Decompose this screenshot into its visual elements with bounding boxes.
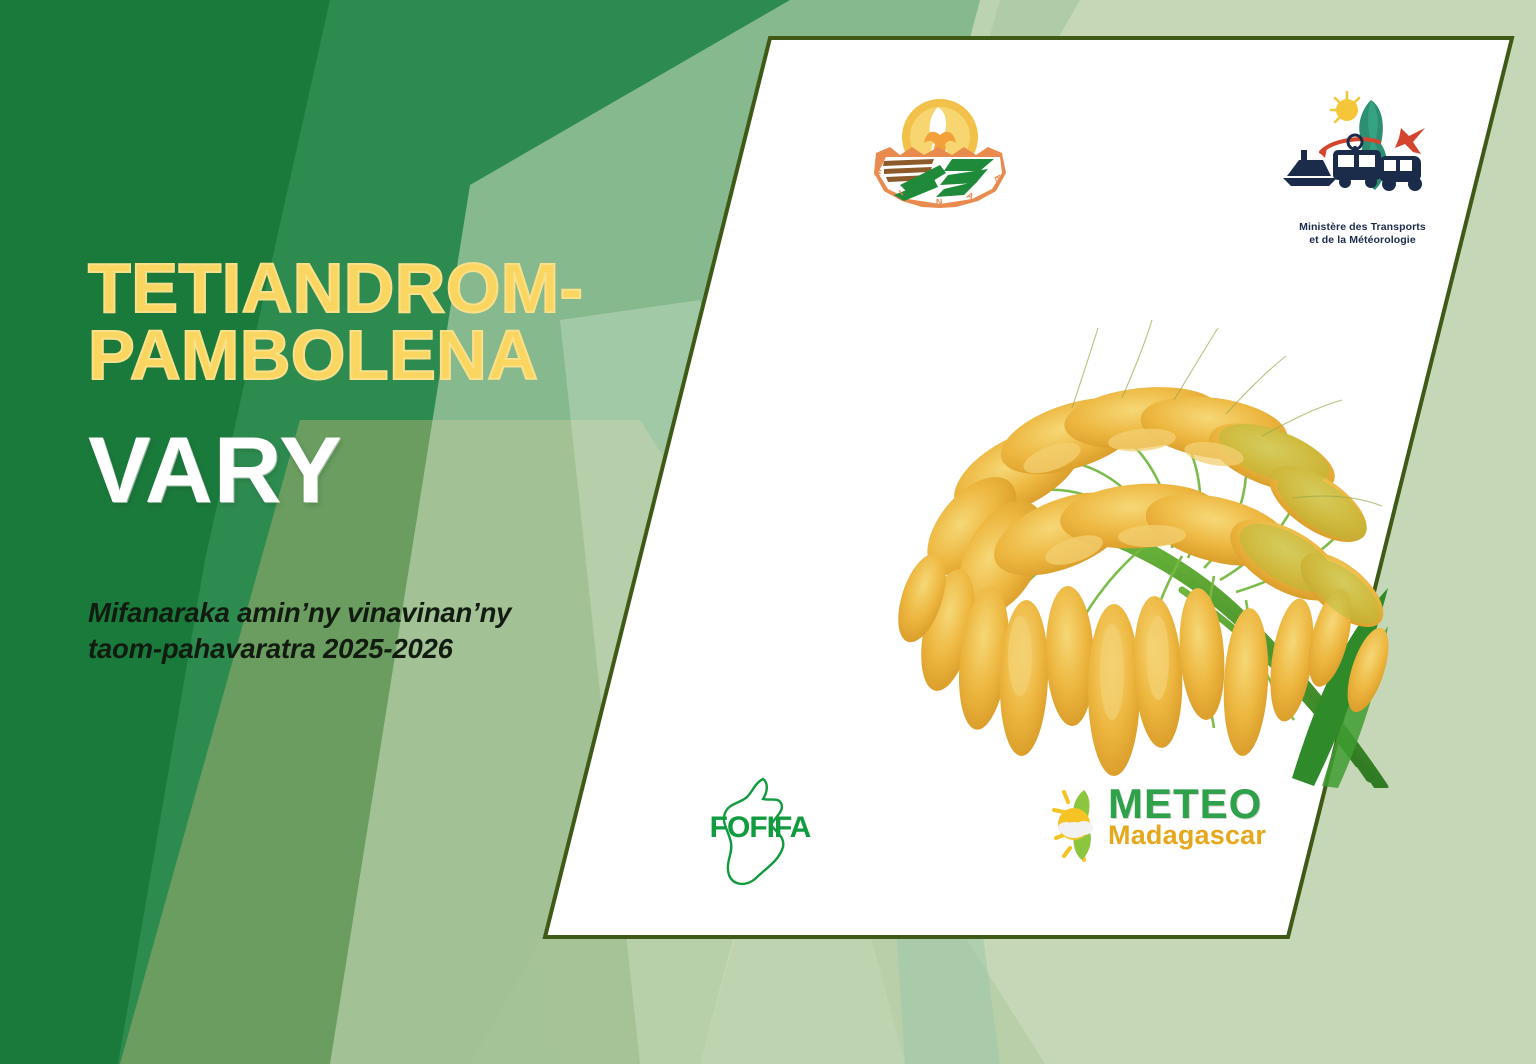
svg-text:N: N xyxy=(936,197,943,207)
page-title-line2: PAMBOLENA xyxy=(88,322,708,389)
ministry-caption-line1: Ministère des Transports xyxy=(1275,221,1450,235)
ministry-caption: Ministère des Transports et de la Météor… xyxy=(1275,221,1450,248)
tagline-line1: Mifanaraka amin’ny vinavinan’ny xyxy=(88,595,708,630)
ministere-des-transports-logo: Ministère des Transports et de la Météor… xyxy=(1275,88,1450,248)
rice-panicle-photo xyxy=(822,258,1392,788)
minae-logo: M I N A E xyxy=(860,95,1020,215)
plane-icon xyxy=(1395,128,1425,154)
meteo-wordmark: METEO Madagascar xyxy=(1108,784,1266,849)
crop-title: VARY xyxy=(88,423,708,517)
page-title: TETIANDROM- PAMBOLENA xyxy=(88,255,708,389)
meteo-madagascar-logo: METEO Madagascar xyxy=(1050,782,1280,887)
headline-block: TETIANDROM- PAMBOLENA VARY Mifanaraka am… xyxy=(88,255,708,666)
ministry-caption-line2: et de la Météorologie xyxy=(1275,234,1450,248)
poster-canvas: M I N A E xyxy=(0,0,1536,1064)
fofifa-logo: FOFIFA xyxy=(705,775,815,890)
boat-icon xyxy=(1283,150,1337,186)
meteo-subtitle: Madagascar xyxy=(1108,822,1266,849)
meteo-title: METEO xyxy=(1108,784,1266,824)
page-title-line1: TETIANDROM- xyxy=(88,255,708,322)
tagline-line2: taom-pahavaratra 2025-2026 xyxy=(88,631,708,666)
tagline: Mifanaraka amin’ny vinavinan’ny taom-pah… xyxy=(88,595,708,665)
fofifa-wordmark: FOFIFA xyxy=(710,811,811,844)
